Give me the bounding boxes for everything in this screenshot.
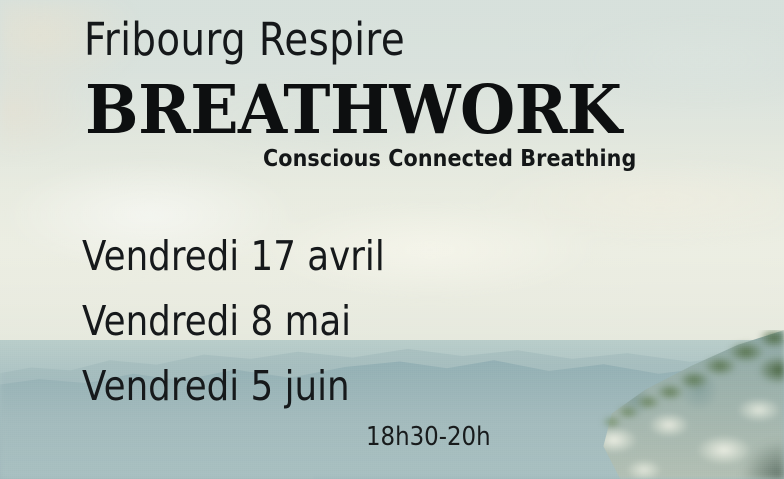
event-date-list: Vendredi 17 avril Vendredi 8 mai Vendred…	[82, 236, 430, 431]
poster-subtitle: Conscious Connected Breathing	[263, 148, 636, 171]
page-title: BREATHWORK	[85, 76, 621, 143]
poster-text-content: Fribourg Respire BREATHWORK Conscious Co…	[0, 0, 784, 479]
event-time: 18h30-20h	[366, 424, 491, 450]
event-date: Vendredi 8 mai	[82, 301, 385, 342]
organisation-name: Fribourg Respire	[84, 17, 405, 62]
event-date: Vendredi 17 avril	[82, 236, 385, 277]
event-date: Vendredi 5 juin	[82, 366, 385, 407]
breathwork-event-poster: Fribourg Respire BREATHWORK Conscious Co…	[0, 0, 784, 479]
